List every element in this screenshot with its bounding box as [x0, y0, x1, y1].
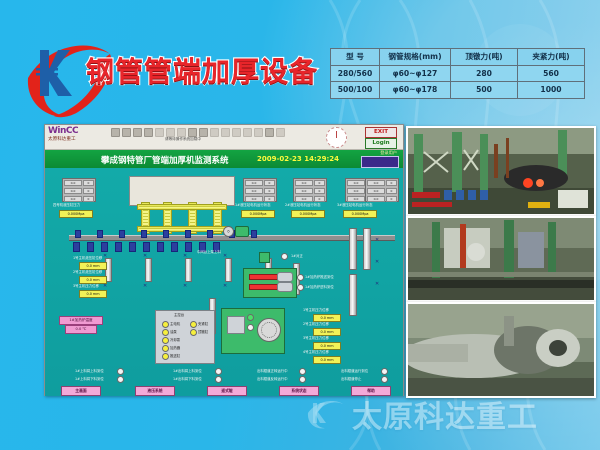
cell-pipe-spec: φ60~φ127: [380, 65, 451, 82]
logged-user-value: [361, 156, 399, 168]
valve-icon: ✕: [223, 284, 227, 289]
valve-icon: ✕: [103, 284, 107, 289]
report-icon[interactable]: [221, 128, 230, 137]
toolbar-icon-strip[interactable]: [111, 128, 285, 137]
gauge-group: 0.00 0.00 0.00: [293, 178, 327, 202]
user-icon[interactable]: [254, 128, 263, 137]
temperature-value: 0.0 ℃: [65, 325, 97, 334]
machine-block: [227, 316, 245, 334]
roller: [129, 242, 136, 252]
status-led: [117, 368, 124, 375]
print-icon[interactable]: [133, 128, 142, 137]
clamp-head: [277, 272, 293, 282]
roller: [171, 242, 178, 252]
status-led: [162, 321, 169, 328]
roller: [207, 230, 213, 238]
hmi-mimic-area: 0.00 0.00 0.00 四号机液压缸压力 0.000Mpa 0.00 0.…: [45, 168, 403, 396]
gauge-group-value: 0.000Mpa: [59, 210, 93, 218]
roller: [157, 242, 164, 252]
watermark-text: 太原科达重工: [352, 392, 538, 436]
roller: [185, 230, 191, 238]
gauge-group-caption: 四号机液压缸压力: [53, 203, 80, 207]
wincc-logo-text: WinCC: [48, 126, 104, 136]
roller: [97, 230, 103, 238]
hydraulic-cylinder: [185, 258, 192, 282]
gauge-value: 0.0: [64, 188, 82, 194]
roller: [141, 230, 147, 238]
zoom-icon[interactable]: [188, 128, 197, 137]
footer-watermark: 太原科达重工: [306, 392, 538, 436]
machine-status-led: [247, 324, 254, 331]
gauge-group-value: 0.000Mpa: [291, 210, 325, 218]
gauge-group-left: 0.00 0.00 0.00: [62, 178, 96, 202]
hydraulic-cylinder: [145, 258, 152, 282]
photo-workshop-top: [406, 126, 596, 216]
roller: [87, 242, 94, 252]
machine-status-led: [247, 314, 254, 321]
gauge-group: 0.00 0.00 0.00: [365, 178, 399, 202]
status-led: [117, 376, 124, 383]
indicator-label: 1#加热炉进料到位: [305, 285, 334, 289]
status-led: [215, 368, 222, 375]
readout-value: 0.0 mm: [313, 314, 341, 322]
th-upset-force: 顶镦力(吨): [451, 49, 518, 66]
status-led: [190, 329, 197, 336]
tag-icon[interactable]: [232, 128, 241, 137]
heating-rod: [249, 284, 279, 290]
status-label: 1#出料臂下料到位: [173, 377, 202, 381]
cell-clamp-force: 560: [518, 65, 585, 82]
valve-icon: ✕: [183, 254, 187, 259]
level-bar: [349, 228, 357, 270]
gauge-unit: 0: [83, 188, 94, 194]
table-row: 500/100 φ60~φ178 500 1000: [331, 82, 585, 99]
roller: [185, 242, 192, 252]
help-icon[interactable]: [265, 128, 274, 137]
status-led: [162, 345, 169, 352]
gauge-unit: 0: [83, 196, 94, 202]
toolbar-message: 请等待操作系统加载中: [165, 137, 201, 142]
wincc-company-text: 太原科达重工: [48, 136, 104, 143]
valve-icon: ✕: [143, 284, 147, 289]
roller: [143, 242, 150, 252]
status-led: [297, 274, 304, 281]
nav-button-hydraulics[interactable]: 液压系统: [135, 386, 175, 396]
status-led: [381, 368, 388, 375]
readout-label: 3号主机压力位移: [73, 284, 99, 288]
status-led: [299, 368, 306, 375]
readout-label: 3号主机压力位移: [303, 336, 329, 340]
status-led: [190, 321, 197, 328]
paste-icon[interactable]: [166, 128, 175, 137]
exit-button[interactable]: EXIT: [365, 127, 397, 138]
readout-label: 2号主机压力位移: [303, 322, 329, 326]
photo-workshop-mid: [406, 216, 596, 302]
table-row: 280/560 φ60~φ127 280 560: [331, 65, 585, 82]
indicator-label: 中间台上架上料: [197, 250, 221, 254]
clock-icon: [326, 127, 347, 148]
readout-label: 2号主机液压缸位移: [73, 270, 102, 274]
roller: [115, 242, 122, 252]
status-label: 出料辊道停止: [341, 377, 361, 381]
slide-root: 钢管管端加厚设备 型 号 钢管规格(mm) 顶镦力(吨) 夹紧力(吨) 280/…: [0, 0, 600, 450]
readout-value: 0.0 mm: [313, 328, 341, 336]
hydraulic-cylinder: [225, 258, 232, 282]
trend-icon[interactable]: [210, 128, 219, 137]
th-clamp-force: 夹紧力(吨): [518, 49, 585, 66]
rotary-dial: [257, 318, 281, 342]
hmi-system-title: 攀成钢特管厂管端加厚机监测系统: [101, 154, 229, 166]
photo-pipe-end: [406, 302, 596, 398]
indicator-label: 1#对正: [291, 254, 303, 258]
status-led: [381, 376, 388, 383]
valve-icon: ✕: [375, 260, 379, 265]
readout-value: 0.0 mm: [313, 342, 341, 350]
gauge-value: 0.0: [64, 196, 82, 202]
roller: [251, 230, 257, 238]
roller: [163, 230, 169, 238]
status-led: [297, 284, 304, 291]
status-led: [215, 376, 222, 383]
gauge-value: 0.0: [64, 180, 82, 186]
th-model: 型 号: [331, 49, 380, 66]
status-label: 出料辊道正转运行中: [257, 369, 288, 373]
exit-tool-icon[interactable]: [276, 128, 285, 137]
nav-button-roller[interactable]: 遥式辊: [207, 386, 247, 396]
roller: [119, 230, 125, 238]
wincc-branding: WinCC 太原科达重工: [48, 126, 104, 148]
clamp-head: [277, 282, 293, 292]
hmi-timestamp: 2009-02-23 14:29:24: [257, 155, 339, 163]
cell-pipe-spec: φ60~φ178: [380, 82, 451, 99]
status-label: 出料辊道运行到位: [341, 369, 368, 373]
cell-model: 500/100: [331, 82, 380, 99]
status-label: 1#上料臂下料到位: [75, 377, 104, 381]
hmi-toolbar: WinCC 太原科达重工 请等待操作系统加载中 EXIT Login: [45, 125, 403, 150]
hmi-window: WinCC 太原科达重工 请等待操作系统加载中 EXIT Login 攀成钢特管…: [44, 124, 404, 396]
gauge-group-caption: 3#液压站电机运行状态: [337, 203, 373, 207]
valve-icon: ✕: [143, 254, 147, 259]
spec-table: 型 号 钢管规格(mm) 顶镦力(吨) 夹紧力(吨) 280/560 φ60~φ…: [330, 48, 585, 99]
cell-clamp-force: 1000: [518, 82, 585, 99]
valve-icon: ✕: [183, 284, 187, 289]
indicator-label: 1#加热炉推送到位: [305, 275, 334, 279]
roller: [73, 242, 80, 252]
valve-icon: ✕: [103, 254, 107, 259]
gauge-group-caption: 2#液压站电机运行状态: [285, 203, 321, 207]
valve-icon: ✕: [375, 238, 379, 243]
undo-icon[interactable]: [177, 128, 186, 137]
status-label: 1#出料臂上料到位: [173, 369, 202, 373]
roller: [75, 230, 81, 238]
status-led: [281, 253, 288, 260]
valve-icon: ✕: [223, 254, 227, 259]
status-led: [162, 329, 169, 336]
readout-value: 0.0 mm: [313, 356, 341, 364]
nav-button-main[interactable]: 主画面: [61, 386, 101, 396]
hmi-title-bar: 攀成钢特管厂管端加厚机监测系统 2009-02-23 14:29:24 登录用户: [45, 150, 403, 168]
temperature-label: 1#加热炉温度: [59, 316, 103, 325]
level-bar: [349, 274, 357, 316]
readout-label: 4号主机压力位移: [303, 350, 329, 354]
gauge-group: 0.00 0.00 0.00: [243, 178, 277, 202]
cell-model: 280/560: [331, 65, 380, 82]
gauge-group-value: 0.000Mpa: [343, 210, 377, 218]
status-led: [162, 337, 169, 344]
readout-value: 0.0 mm: [79, 262, 107, 270]
login-button[interactable]: Login: [365, 138, 397, 149]
copy-icon[interactable]: [144, 128, 153, 137]
level-bar: [363, 228, 371, 270]
status-label: 出料辊道反转运行中: [257, 377, 288, 381]
script-icon[interactable]: [243, 128, 252, 137]
readout-value: 0.0 mm: [79, 276, 107, 284]
readout-label: 1号主机压力位移: [303, 308, 329, 312]
gauge-unit: 0: [83, 180, 94, 186]
save-icon[interactable]: [122, 128, 131, 137]
readout-label: 1号主机液压缸位移: [73, 256, 102, 260]
th-pipe-spec: 钢管规格(mm): [380, 49, 451, 66]
gauge-group-value: 0.000Mpa: [241, 210, 275, 218]
table-header-row: 型 号 钢管规格(mm) 顶镦力(吨) 夹紧力(吨): [331, 49, 585, 66]
open-icon[interactable]: [111, 128, 120, 137]
indicator-box: [259, 252, 270, 263]
readout-value: 0.0 mm: [79, 290, 107, 298]
press-crossbeam: [137, 204, 227, 210]
status-led: [299, 376, 306, 383]
drive-motor: [235, 226, 249, 237]
gauge-group-caption: 1#液压站电机运行状态: [235, 203, 271, 207]
press-crossbeam: [137, 226, 227, 232]
control-list-panel: 主控台 主电机 油泵 冷却泵 加热器 推送缸 夹紧缸 顶镦缸: [155, 310, 215, 364]
roller: [101, 242, 108, 252]
cell-upset-force: 500: [451, 82, 518, 99]
valve-icon: ✕: [375, 282, 379, 287]
cell-upset-force: 280: [451, 65, 518, 82]
page-title: 钢管管端加厚设备: [86, 50, 318, 90]
status-led: [162, 353, 169, 360]
watermark-k-icon: [306, 397, 346, 431]
alarm-icon[interactable]: [199, 128, 208, 137]
heating-rod: [249, 274, 279, 280]
pump-wheel: [223, 226, 234, 237]
status-label: 1#上料臂上料到位: [75, 369, 104, 373]
cut-icon[interactable]: [155, 128, 164, 137]
